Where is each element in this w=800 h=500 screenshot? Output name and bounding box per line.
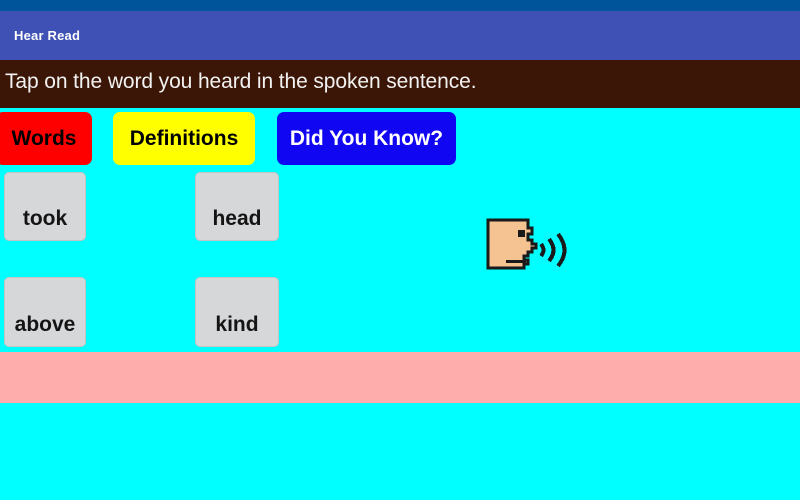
system-status-bar xyxy=(0,0,800,11)
word-tile[interactable]: took xyxy=(4,172,86,241)
app-bar: Hear Read xyxy=(0,11,800,60)
instruction-text: Tap on the word you heard in the spoken … xyxy=(5,70,476,94)
speaking-head-icon-svg xyxy=(484,218,572,274)
feedback-band xyxy=(0,352,800,403)
app-root: Hear Read Tap on the word you heard in t… xyxy=(0,0,800,500)
did-you-know-button[interactable]: Did You Know? xyxy=(277,112,456,165)
action-button-row: Words Definitions Did You Know? xyxy=(0,108,800,168)
word-tile[interactable]: above xyxy=(4,277,86,347)
definitions-button[interactable]: Definitions xyxy=(113,112,255,165)
word-tile[interactable]: head xyxy=(195,172,279,241)
word-tile-label: kind xyxy=(196,313,278,337)
speaking-head-icon[interactable] xyxy=(484,218,572,274)
word-tile-label: above xyxy=(5,313,85,337)
bottom-content-area xyxy=(0,403,800,500)
app-title: Hear Read xyxy=(14,28,80,43)
instruction-banner: Tap on the word you heard in the spoken … xyxy=(0,60,800,108)
words-button[interactable]: Words xyxy=(0,112,92,165)
word-tile-label: took xyxy=(5,207,85,231)
word-tile-label: head xyxy=(196,207,278,231)
word-tile[interactable]: kind xyxy=(195,277,279,347)
